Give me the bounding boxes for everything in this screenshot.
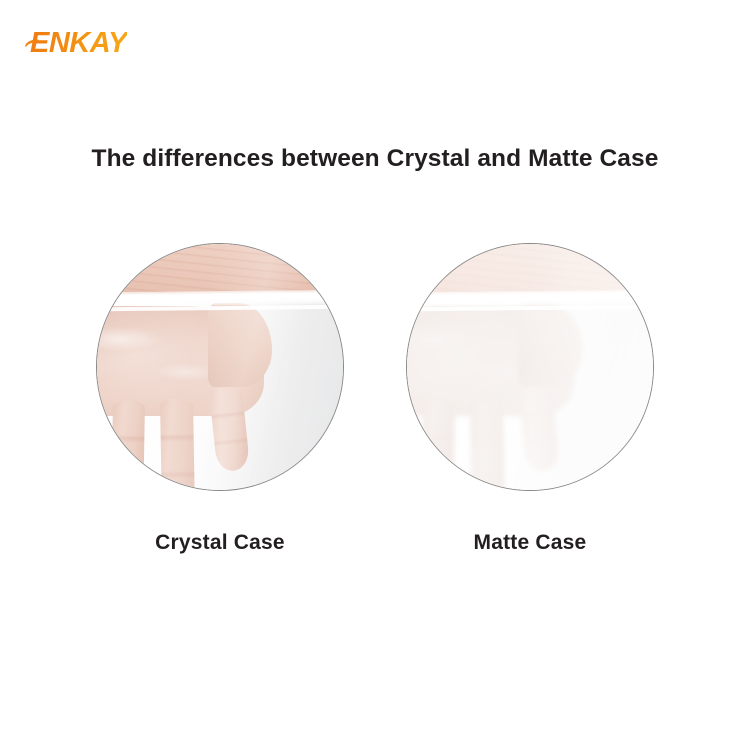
comparison-item-crystal: Crystal Case [96,243,344,491]
thumb-mound [518,303,582,387]
matte-case-photo-inner [407,244,653,490]
finger-2 [421,401,455,490]
finger-3 [160,399,195,490]
page-title: The differences between Crystal and Matt… [0,144,750,173]
brand-name: ENKAY [30,29,127,58]
crystal-case-photo-inner [97,244,343,490]
finger-2 [111,401,145,490]
case-edge-highlight [407,289,653,306]
thumb-mound [208,303,272,387]
comparison-item-matte: Matte Case [406,243,654,491]
case-edge-highlight [97,289,343,306]
brand-logo: ENKAY [30,29,127,57]
caption-crystal-case: Crystal Case [96,531,344,555]
matte-case-photo [406,243,654,491]
crystal-case-photo [96,243,344,491]
finger-3 [470,399,505,490]
caption-matte-case: Matte Case [406,531,654,555]
comparison-row: Crystal Case Matte Case [0,243,750,573]
